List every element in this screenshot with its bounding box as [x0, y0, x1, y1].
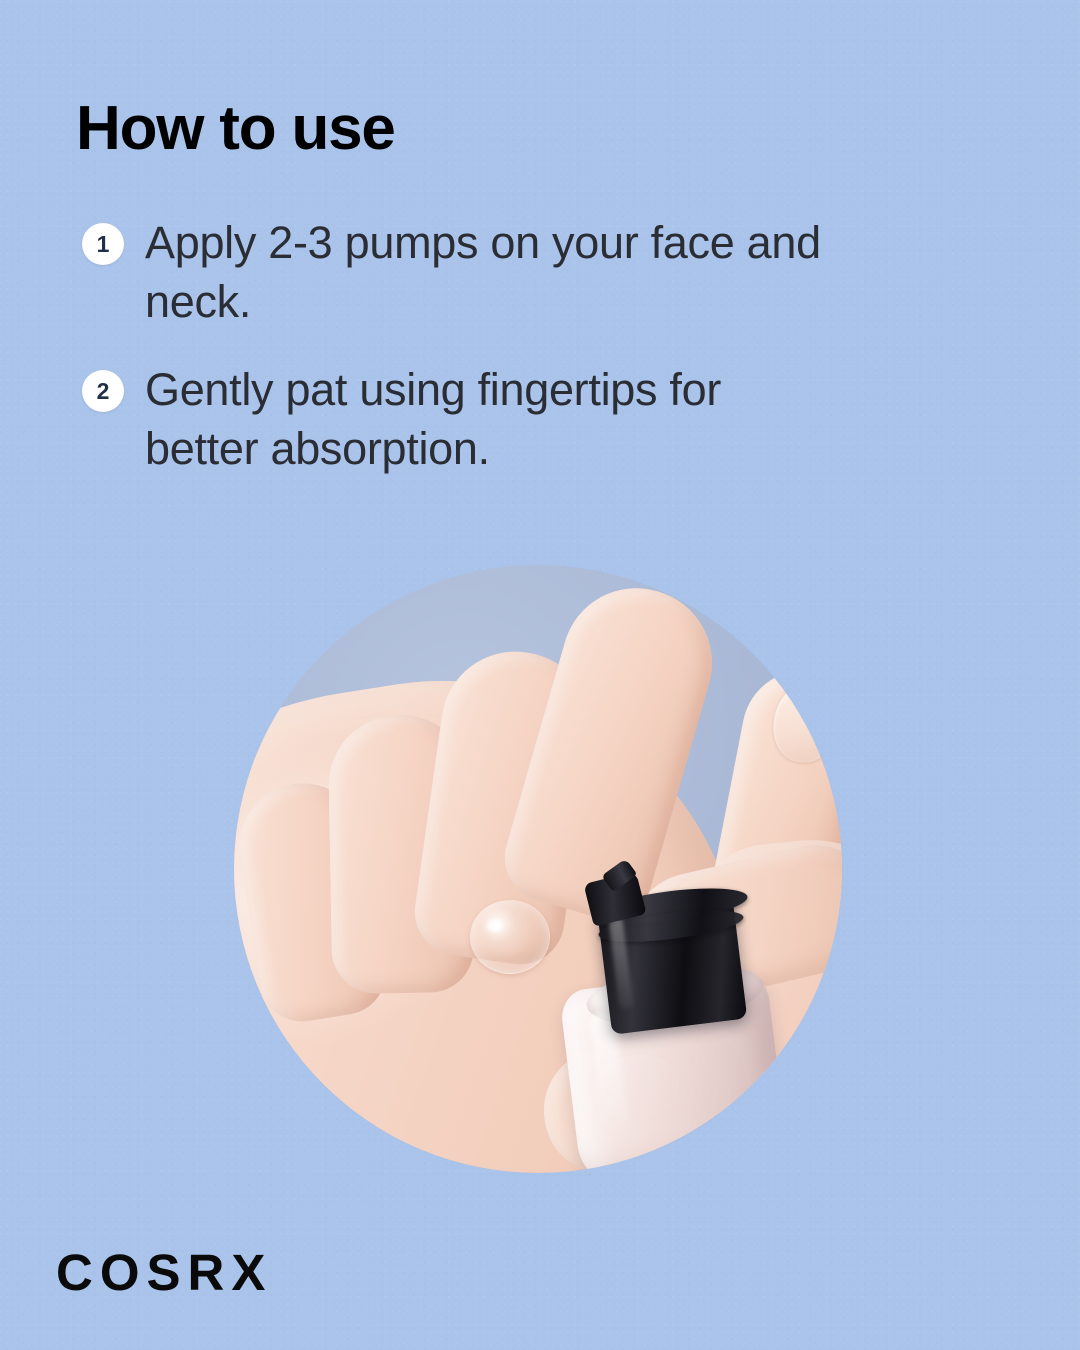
step-number-badge: 1	[82, 223, 124, 265]
step-text: Gently pat using fingertips for better a…	[145, 361, 842, 478]
brand-logo: COSRX	[56, 1243, 272, 1302]
list-item: 1 Apply 2-3 pumps on your face and neck.	[82, 214, 842, 331]
how-to-use-poster: How to use 1 Apply 2-3 pumps on your fac…	[0, 0, 1080, 1350]
page-title: How to use	[76, 96, 395, 161]
product-usage-photo	[234, 565, 842, 1173]
photo-scene	[234, 565, 842, 1173]
step-text: Apply 2-3 pumps on your face and neck.	[145, 214, 842, 331]
serum-pump-bottle	[552, 883, 792, 1173]
step-number-badge: 2	[82, 370, 124, 412]
fingernail	[769, 681, 840, 766]
list-item: 2 Gently pat using fingertips for better…	[82, 361, 842, 478]
steps-list: 1 Apply 2-3 pumps on your face and neck.…	[82, 214, 842, 508]
